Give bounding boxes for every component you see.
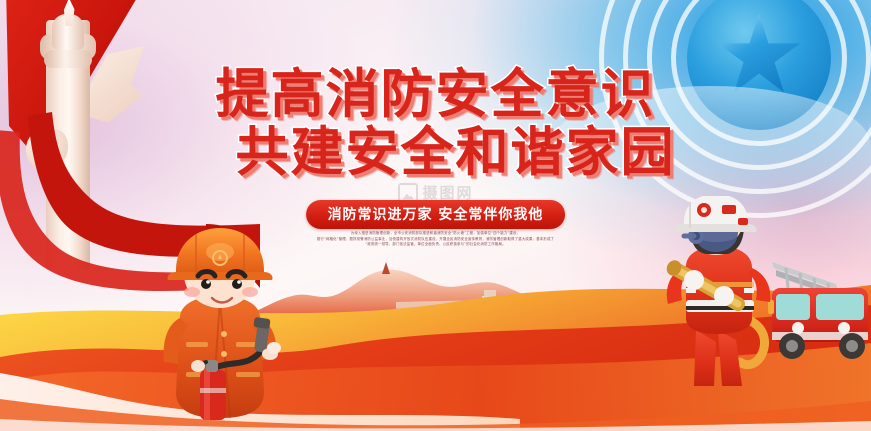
fire-truck-icon <box>768 262 868 359</box>
fire-safety-poster: 摄图网 提高消防安全意识 共建安全和谐家园 消防常识进万家 安全常伴你我他 为深… <box>0 0 871 431</box>
title-line-1: 提高消防安全意识 <box>0 66 871 124</box>
body-line-3: “政府统一领导、部门依法监管、单位全面负责、公民积极参与”的社会化消防工作格局。 <box>260 242 612 248</box>
poster-title-block: 提高消防安全意识 共建安全和谐家园 <box>0 66 871 182</box>
subtitle-text: 消防常识进万家 安全常伴你我他 <box>328 207 544 223</box>
firefighter-with-hose-icon <box>660 196 871 396</box>
subtitle-banner: 消防常识进万家 安全常伴你我他 <box>306 200 566 229</box>
cartoon-firefighter-kid-icon <box>152 222 292 431</box>
title-line-2: 共建安全和谐家园 <box>0 124 871 182</box>
body-paragraph: 为深入推进消防管理创新，全市公安消防部队推进和谐消防安全“防火墙”工程，加强单位… <box>260 231 612 248</box>
